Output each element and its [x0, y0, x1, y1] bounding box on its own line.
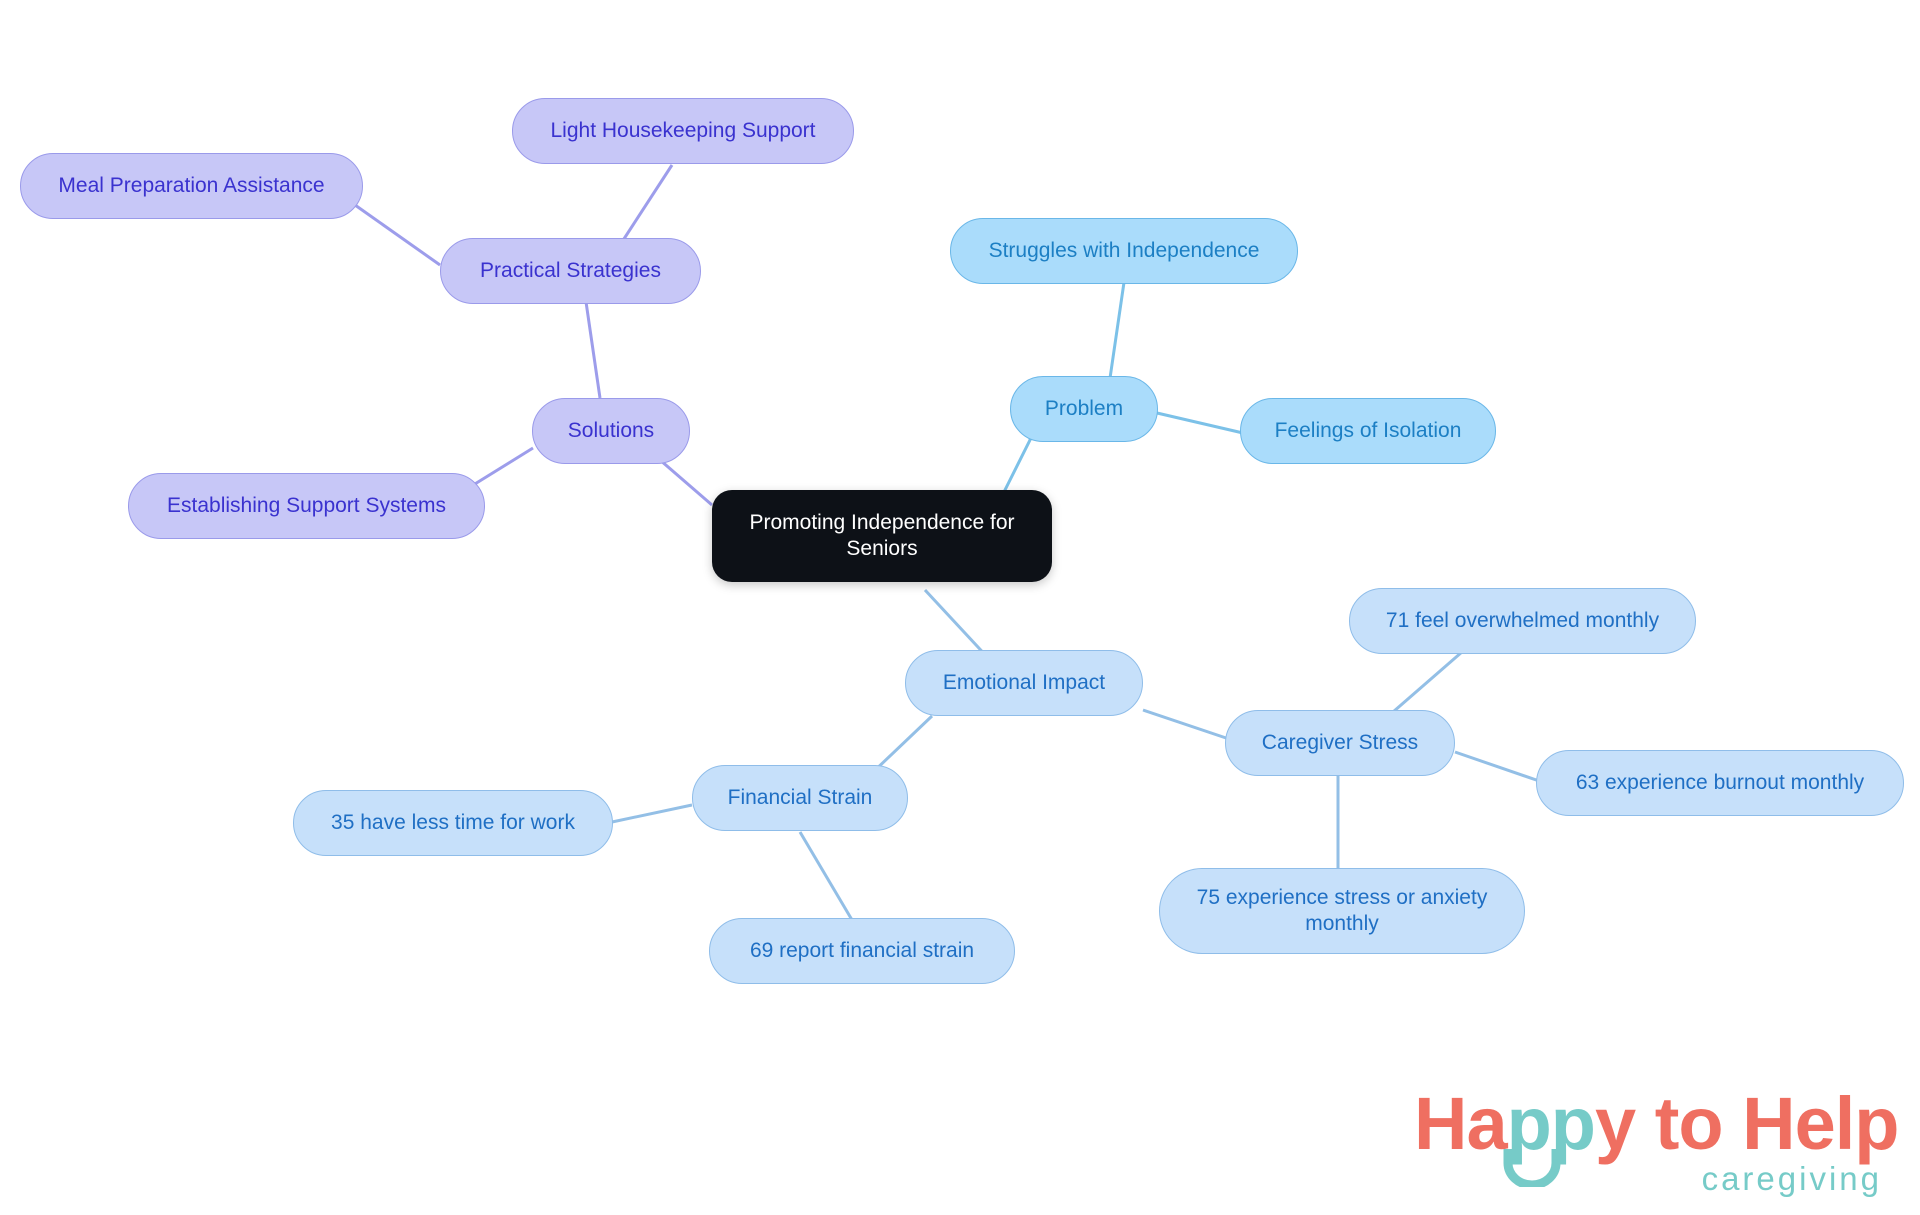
edge-financial-stat35 [612, 805, 692, 822]
child-node-struggles-with-independence[interactable]: Struggles with Independence [950, 218, 1298, 284]
child-node-financial-strain[interactable]: Financial Strain [692, 765, 908, 831]
branch-node-problem[interactable]: Problem [1010, 376, 1158, 442]
child-node-feelings-of-isolation[interactable]: Feelings of Isolation [1240, 398, 1496, 464]
mindmap-canvas: Promoting Independence for Seniors Probl… [0, 0, 1920, 1215]
brand-logo: Happy to Help caregiving [1414, 1087, 1884, 1197]
child-node-establishing-support-systems[interactable]: Establishing Support Systems [128, 473, 485, 539]
stat-node-71-feel-overwhelmed-monthly[interactable]: 71 feel overwhelmed monthly [1349, 588, 1696, 654]
logo-words-to-help: to Help [1635, 1082, 1898, 1165]
edge-caregiver-stat63 [1455, 752, 1545, 783]
logo-wordmark: Happy to Help [1414, 1087, 1899, 1161]
logo-letter-y: y [1595, 1082, 1635, 1165]
smile-icon [1502, 1147, 1562, 1187]
edge-practical-housekeeping [620, 165, 672, 245]
edge-solutions-practical [585, 295, 600, 398]
logo-letter-h: H [1414, 1082, 1466, 1165]
stat-node-63-experience-burnout-monthly[interactable]: 63 experience burnout monthly [1536, 750, 1904, 816]
stat-node-35-have-less-time-for-work[interactable]: 35 have less time for work [293, 790, 613, 856]
child-node-practical-strategies[interactable]: Practical Strategies [440, 238, 701, 304]
edge-solutions-support [470, 448, 533, 487]
grandchild-node-meal-preparation-assistance[interactable]: Meal Preparation Assistance [20, 153, 363, 219]
logo-subtitle: caregiving [1702, 1162, 1882, 1195]
edge-practical-mealprep [355, 205, 440, 265]
stat-node-75-experience-stress-or-anxiety-monthly[interactable]: 75 experience stress or anxiety monthly [1159, 868, 1525, 954]
branch-node-solutions[interactable]: Solutions [532, 398, 690, 464]
edge-emotional-caregiver [1143, 710, 1232, 740]
branch-node-emotional-impact[interactable]: Emotional Impact [905, 650, 1143, 716]
edge-financial-stat69 [800, 832, 855, 925]
child-node-caregiver-stress[interactable]: Caregiver Stress [1225, 710, 1455, 776]
edge-problem-isolation [1157, 413, 1243, 433]
grandchild-node-light-housekeeping-support[interactable]: Light Housekeeping Support [512, 98, 854, 164]
logo-letter-a: a [1466, 1082, 1506, 1165]
edge-caregiver-stat71 [1393, 645, 1470, 712]
stat-node-69-report-financial-strain[interactable]: 69 report financial strain [709, 918, 1015, 984]
root-node[interactable]: Promoting Independence for Seniors [712, 490, 1052, 582]
